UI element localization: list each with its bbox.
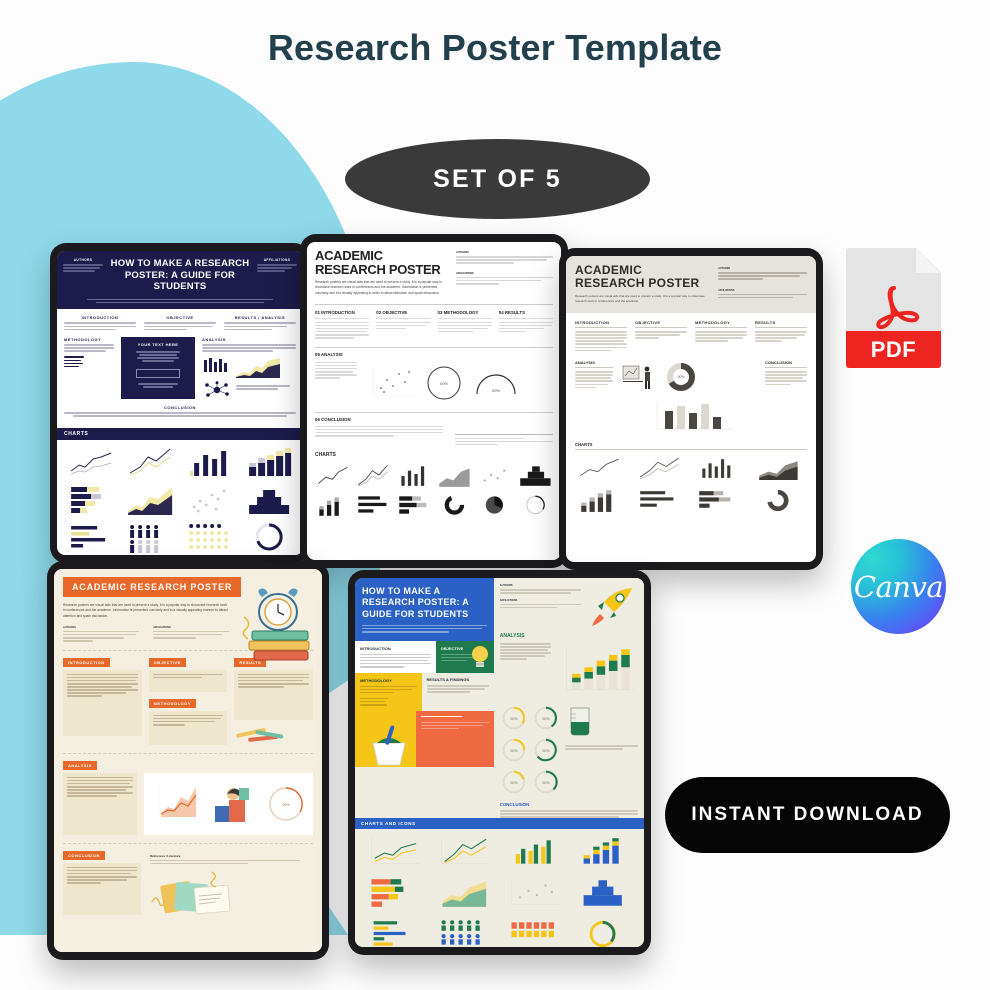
- section-analysis-tag: ANALYSIS: [63, 761, 97, 770]
- pie-chart-thumb: [476, 492, 513, 518]
- chart-thumb: [242, 521, 296, 554]
- poster-navy: AUTHORS HOW TO MAKE A RESEARCH POSTER: A…: [57, 251, 303, 555]
- stacked-column-thumb: [315, 492, 352, 518]
- section-analysis-lines: [202, 344, 296, 352]
- affiliations-label: AFFILIATIONS: [257, 258, 297, 262]
- line-chart-thumb: [575, 454, 623, 481]
- people-chart-icon: [202, 356, 232, 378]
- section-conclusion: CONCLUSION: [64, 405, 296, 417]
- pdf-file-icon: PDF: [846, 248, 941, 368]
- poster-navy-top-sections: INTRODUCTION OBJECTIVE: [64, 315, 296, 330]
- affiliations-label: AFFILIATIONS: [718, 289, 807, 292]
- waffle-chart-thumb: [503, 917, 563, 947]
- multi-line-chart-thumb: [355, 462, 392, 488]
- scatter-chart-thumb: [183, 483, 237, 516]
- svg-text:00%: 00%: [542, 781, 550, 785]
- section-objective-title: OBJECTIVE: [635, 320, 687, 325]
- svg-text:00%: 00%: [440, 381, 448, 386]
- stacked-column-thumb: [575, 487, 623, 514]
- section-02-objective: 02 OBJECTIVE: [376, 310, 430, 339]
- section-conclusion-title: CONCLUSION: [500, 802, 638, 807]
- stacked-column-thumb: [242, 445, 296, 478]
- section-06-conclusion-title: 06 CONCLUSION: [315, 417, 553, 422]
- sticky-notes-illustration: [150, 868, 246, 922]
- set-of-badge: SET OF 5: [345, 139, 650, 219]
- section-03-methodology: 03 METHODOLOGY: [438, 310, 492, 339]
- chart-thumb: [183, 483, 237, 516]
- page-title: Research Poster Template: [0, 27, 990, 69]
- svg-text:00%: 00%: [542, 717, 550, 721]
- pyramid-bar-thumb: [363, 876, 423, 910]
- multi-line-chart-thumb: [635, 454, 683, 481]
- donut-chart-figure: 00%: [663, 360, 699, 394]
- progress-circle-icon: 00%: [532, 704, 560, 732]
- line-chart-thumb: [315, 462, 352, 488]
- chart-thumb: [183, 521, 237, 554]
- authors-block: AUTHORS: [63, 626, 139, 642]
- section-conclusion-tag: CONCLUSION: [63, 851, 105, 860]
- donut-chart-thumb: [573, 917, 633, 947]
- svg-text:00%: 00%: [678, 375, 685, 379]
- affiliations-label: AFFILIATIONS: [500, 599, 581, 602]
- section-objective: OBJECTIVE: [144, 315, 216, 330]
- section-04-title: 04 RESULTS: [499, 310, 553, 315]
- multi-line-chart-thumb: [433, 835, 493, 869]
- poster-minimal-intro: Research posters are visual aids that ar…: [315, 280, 446, 295]
- section-introduction: INTRODUCTION: [63, 658, 142, 745]
- tablet-3-device[interactable]: ACADEMIC RESEARCH POSTER Research poster…: [559, 248, 823, 570]
- section-methodology: METHODOLOGY: [149, 699, 228, 745]
- charts-band: CHARTS: [57, 428, 303, 440]
- tablet-3-screen: ACADEMIC RESEARCH POSTER Research poster…: [566, 256, 816, 562]
- donut-chart-thumb: [436, 492, 473, 518]
- donut-chart-thumb: [754, 487, 802, 514]
- network-chart-icon: [202, 381, 232, 399]
- affiliations-lines: [257, 264, 297, 272]
- section-introduction: INTRODUCTION: [64, 315, 136, 330]
- section-conclusion-title: CONCLUSION: [765, 360, 807, 365]
- section-conclusion: CONCLUSION: [500, 802, 638, 818]
- section-conclusion-title: CONCLUSION: [64, 405, 296, 410]
- section-04-results: 04 RESULTS: [499, 310, 553, 339]
- section-results: RESULTS: [234, 658, 313, 745]
- section-03-title: 03 METHODOLOGY: [438, 310, 492, 315]
- section-introduction-title: INTRODUCTION: [360, 646, 431, 651]
- section-introduction-tag: INTRODUCTION: [63, 658, 110, 667]
- section-introduction-lines: [64, 322, 136, 330]
- section-methodology-title: METHODOLOGY: [695, 320, 747, 325]
- poster-colorful: HOW TO MAKE A RESEARCH POSTER: A GUIDE F…: [355, 578, 644, 947]
- area-chart-thumb: [236, 356, 280, 378]
- column-chart-thumb: [694, 454, 742, 481]
- set-of-badge-label: SET OF 5: [433, 165, 562, 194]
- stacked-bar-thumb: [694, 487, 742, 514]
- authors-label: AUTHORS: [456, 251, 553, 254]
- section-results-lines: [224, 322, 296, 330]
- section-introduction: INTRODUCTION: [575, 320, 627, 351]
- stacked-column-thumb: [573, 835, 633, 869]
- mortar-pestle-icon: [365, 721, 413, 767]
- poster-navy-title: HOW TO MAKE A RESEARCH POSTER: A GUIDE F…: [108, 258, 252, 293]
- mortar-illustration-cell: [355, 711, 416, 767]
- poster-cream-intro-block: Research posters are visual aids that ar…: [54, 597, 238, 619]
- poster-navy-authors: AUTHORS: [63, 258, 103, 272]
- section-extra: [416, 711, 493, 767]
- bar-chart-thumb: [363, 917, 423, 947]
- gauge-figure: 00%: [473, 362, 519, 404]
- affiliations-label: AFFILIATIONS: [153, 626, 229, 629]
- poster-navy-header: AUTHORS HOW TO MAKE A RESEARCH POSTER: A…: [57, 251, 303, 299]
- donut-chart-figure: 00%: [264, 782, 308, 826]
- poster-navy-callout-box: YOUR TEXT HERE: [121, 337, 195, 399]
- bar-chart-thumb: [64, 521, 118, 554]
- section-05-analysis-title: 05 ANALYSIS: [315, 352, 553, 357]
- section-conclusion: CONCLUSION: [765, 360, 807, 434]
- area-chart-thumb: [433, 876, 493, 910]
- chart-thumb: [242, 483, 296, 516]
- svg-text:00%: 00%: [510, 781, 518, 785]
- callout-box-lines: [126, 351, 190, 362]
- acrobat-swirl-icon: [868, 284, 920, 334]
- poster-beige-meta: AUTHORS AFFILIATIONS: [718, 264, 807, 304]
- chart-thumb: [64, 521, 118, 554]
- section-analysis: ANALYSIS: [54, 754, 322, 835]
- scatter-chart-thumb: [476, 462, 513, 488]
- svg-text:00%: 00%: [510, 717, 518, 721]
- svg-text:00%: 00%: [492, 388, 500, 393]
- poster-mockup-stage: Research Poster Template SET OF 5 INSTAN…: [0, 0, 990, 990]
- section-objective: OBJECTIVE: [635, 320, 687, 351]
- step-column-thumb: [573, 876, 633, 910]
- charts-grid: [315, 462, 553, 518]
- charts-grid: [575, 454, 807, 514]
- section-objective-title: OBJECTIVE: [144, 315, 216, 320]
- chart-thumb: [64, 445, 118, 478]
- pens-illustration: [234, 724, 292, 744]
- stacked-bar-thumb: [396, 492, 433, 518]
- section-02-title: 02 OBJECTIVE: [376, 310, 430, 315]
- instant-download-label: INSTANT DOWNLOAD: [691, 804, 923, 826]
- section-01-introduction: 01 INTRODUCTION: [315, 310, 369, 339]
- tablet-4-device[interactable]: ACADEMIC RESEARCH POSTER Research poster…: [47, 561, 329, 960]
- progress-circle-icon: 00%: [532, 736, 560, 764]
- charts-band: CHARTS: [575, 442, 807, 447]
- section-results: RESULTS / ANALYSIS: [224, 315, 296, 330]
- progress-circle-icon: 00%: [500, 704, 528, 732]
- poster-colorful-title: HOW TO MAKE A RESEARCH POSTER: A GUIDE F…: [362, 586, 487, 620]
- tablet-1-device[interactable]: AUTHORS HOW TO MAKE A RESEARCH POSTER: A…: [50, 243, 310, 563]
- donut-chart-thumb: [242, 521, 296, 554]
- section-analysis: ANALYSIS: [500, 633, 638, 699]
- poster-beige-mono: ACADEMIC RESEARCH POSTER Research poster…: [566, 256, 816, 562]
- section-methodology-title: METHODOLOGY: [64, 337, 114, 342]
- researcher-illustration: [621, 362, 657, 392]
- poster-cream-orange: ACADEMIC RESEARCH POSTER Research poster…: [54, 569, 322, 952]
- callout-box-title: YOUR TEXT HERE: [126, 342, 190, 347]
- section-results-findings: RESULTS & FINDINGS: [422, 673, 494, 711]
- column-chart-figure: [621, 399, 757, 433]
- pictogram-people-thumb: [433, 917, 493, 947]
- section-methodology-tag: METHODOLOGY: [149, 699, 196, 708]
- multi-line-chart-thumb: [123, 445, 177, 478]
- researcher-illustration: [213, 782, 253, 826]
- section-introduction-title: INTRODUCTION: [575, 320, 627, 325]
- progress-circle-icon: 00%: [532, 768, 560, 796]
- affiliations-block: AFFILIATIONS: [153, 626, 229, 642]
- chart-thumb: [123, 483, 177, 516]
- dot-matrix-thumb: [183, 521, 237, 554]
- section-objective-lines: [144, 322, 216, 330]
- beaker-icon: [565, 704, 595, 740]
- step-column-thumb: [517, 462, 554, 488]
- tablet-1-screen: AUTHORS HOW TO MAKE A RESEARCH POSTER: A…: [57, 251, 303, 555]
- line-chart-thumb: [363, 835, 423, 869]
- poster-navy-affiliations: AFFILIATIONS: [257, 258, 297, 272]
- section-analysis-title: ANALYSIS: [575, 360, 613, 365]
- authors-label: AUTHORS: [500, 584, 581, 587]
- section-results-title: RESULTS: [755, 320, 807, 325]
- analysis-figures: [202, 356, 296, 378]
- section-introduction: INTRODUCTION: [355, 641, 436, 673]
- chart-thumb: [183, 445, 237, 478]
- section-methodology: METHODOLOGY: [355, 673, 422, 711]
- poster-navy-body: INTRODUCTION OBJECTIVE: [57, 309, 303, 422]
- poster-minimal-white: ACADEMIC RESEARCH POSTER Research poster…: [307, 242, 561, 560]
- lightbulb-icon: [469, 644, 491, 670]
- chart-thumb: [123, 445, 177, 478]
- authors-label: AUTHORS: [63, 258, 103, 262]
- section-01-title: 01 INTRODUCTION: [315, 310, 369, 315]
- poster-minimal-meta: AUTHORS AFFILIATIONS: [456, 249, 553, 296]
- authors-lines: [63, 264, 103, 272]
- analysis-text: [315, 362, 357, 379]
- section-analysis: ANALYSIS: [202, 337, 296, 399]
- tablet-2-device[interactable]: ACADEMIC RESEARCH POSTER Research poster…: [300, 234, 568, 568]
- rocket-icon: [586, 584, 638, 628]
- poster-cream-title: ACADEMIC RESEARCH POSTER: [63, 577, 241, 597]
- clock-and-books-illustration: [238, 587, 316, 667]
- column-chart-thumb: [183, 445, 237, 478]
- poster-minimal-title: ACADEMIC RESEARCH POSTER: [315, 249, 446, 276]
- scatter-plot-figure: [365, 362, 415, 402]
- poster-beige-title: ACADEMIC RESEARCH POSTER: [575, 264, 708, 289]
- area-chart-thumb: [123, 483, 177, 516]
- charts-band: CHARTS: [315, 452, 553, 458]
- chart-thumb: [242, 445, 296, 478]
- bar-chart-thumb: [355, 492, 392, 518]
- area-chart-thumb: [754, 454, 802, 481]
- step-column-thumb: [242, 483, 296, 516]
- section-objective-tag: OBJECTIVE: [149, 658, 186, 667]
- section-objective: OBJECTIVE: [436, 641, 494, 673]
- poster-navy-mid: METHODOLOGY: [64, 337, 296, 399]
- svg-text:00%: 00%: [282, 803, 290, 807]
- tablet-5-device[interactable]: HOW TO MAKE A RESEARCH POSTER: A GUIDE F…: [348, 570, 651, 955]
- progress-circle-icon: 00%: [500, 736, 528, 764]
- area-chart-thumb: [436, 462, 473, 488]
- line-chart-thumb: [64, 445, 118, 478]
- section-analysis-title: ANALYSIS: [202, 337, 296, 342]
- instant-download-button[interactable]: INSTANT DOWNLOAD: [665, 777, 950, 853]
- section-results-title: RESULTS & FINDINGS: [427, 678, 489, 683]
- charts-and-icons-band: CHARTS AND ICONS: [355, 818, 644, 829]
- section-methodology-lines: [64, 344, 114, 367]
- tablet-5-screen: HOW TO MAKE A RESEARCH POSTER: A GUIDE F…: [355, 578, 644, 947]
- charts-grid: [57, 440, 303, 555]
- poster-navy-subtitle: [57, 299, 303, 310]
- authors-label: AUTHORS: [63, 626, 139, 629]
- bar-chart-thumb: [635, 487, 683, 514]
- stacked-column-figure: [557, 643, 638, 699]
- section-results-title: RESULTS / ANALYSIS: [224, 315, 296, 320]
- authors-label: AUTHORS: [718, 267, 807, 270]
- pyramid-bar-thumb: [64, 483, 118, 516]
- section-methodology: METHODOLOGY: [695, 320, 747, 351]
- section-methodology: METHODOLOGY: [64, 337, 114, 399]
- scatter-chart-thumb: [503, 876, 563, 910]
- affiliations-label: AFFILIATIONS: [456, 272, 553, 275]
- chart-thumb: [64, 483, 118, 516]
- section-introduction-title: INTRODUCTION: [64, 315, 136, 320]
- poster-colorful-hero: HOW TO MAKE A RESEARCH POSTER: A GUIDE F…: [355, 578, 494, 641]
- donut-figure: 00%: [423, 362, 465, 404]
- section-analysis-title: ANALYSIS: [500, 633, 638, 639]
- gauge-chart-thumb: [517, 492, 554, 518]
- poster-cream-intro: Research posters are visual aids that ar…: [63, 603, 229, 619]
- section-conclusion-lines: [64, 412, 296, 417]
- canva-logo-label: Canva: [854, 570, 943, 604]
- references-label: References / Literature: [150, 854, 313, 858]
- pdf-label: PDF: [871, 337, 917, 363]
- poster-beige-intro: Research posters are visual aids that ar…: [575, 294, 708, 304]
- chart-thumb: [123, 521, 177, 554]
- tablet-4-screen: ACADEMIC RESEARCH POSTER Research poster…: [54, 569, 322, 952]
- tablet-2-screen: ACADEMIC RESEARCH POSTER Research poster…: [307, 242, 561, 560]
- section-objective: OBJECTIVE: [149, 658, 228, 692]
- pictogram-people-thumb: [123, 521, 177, 554]
- canva-logo-icon: Canva: [851, 539, 946, 634]
- section-results: RESULTS: [755, 320, 807, 351]
- progress-circles-grid: 00% 00% 00% 00% 00% 00%: [500, 704, 560, 796]
- section-analysis: ANALYSIS: [575, 360, 613, 434]
- column-chart-thumb: [503, 835, 563, 869]
- svg-text:00%: 00%: [510, 749, 518, 753]
- section-methodology-title: METHODOLOGY: [360, 678, 417, 683]
- svg-text:00%: 00%: [542, 749, 550, 753]
- poster-beige-header: ACADEMIC RESEARCH POSTER Research poster…: [566, 256, 816, 313]
- progress-circle-icon: 00%: [500, 768, 528, 796]
- pdf-fold-corner: [916, 248, 941, 273]
- section-conclusion: CONCLUSION References / Literature: [54, 844, 322, 924]
- pdf-label-band: PDF: [846, 331, 941, 368]
- area-chart-figure: [150, 781, 202, 827]
- charts-grid: [355, 829, 644, 947]
- column-chart-thumb: [396, 462, 433, 488]
- poster-colorful-right: AUTHORS AFFILIATIONS: [494, 578, 644, 818]
